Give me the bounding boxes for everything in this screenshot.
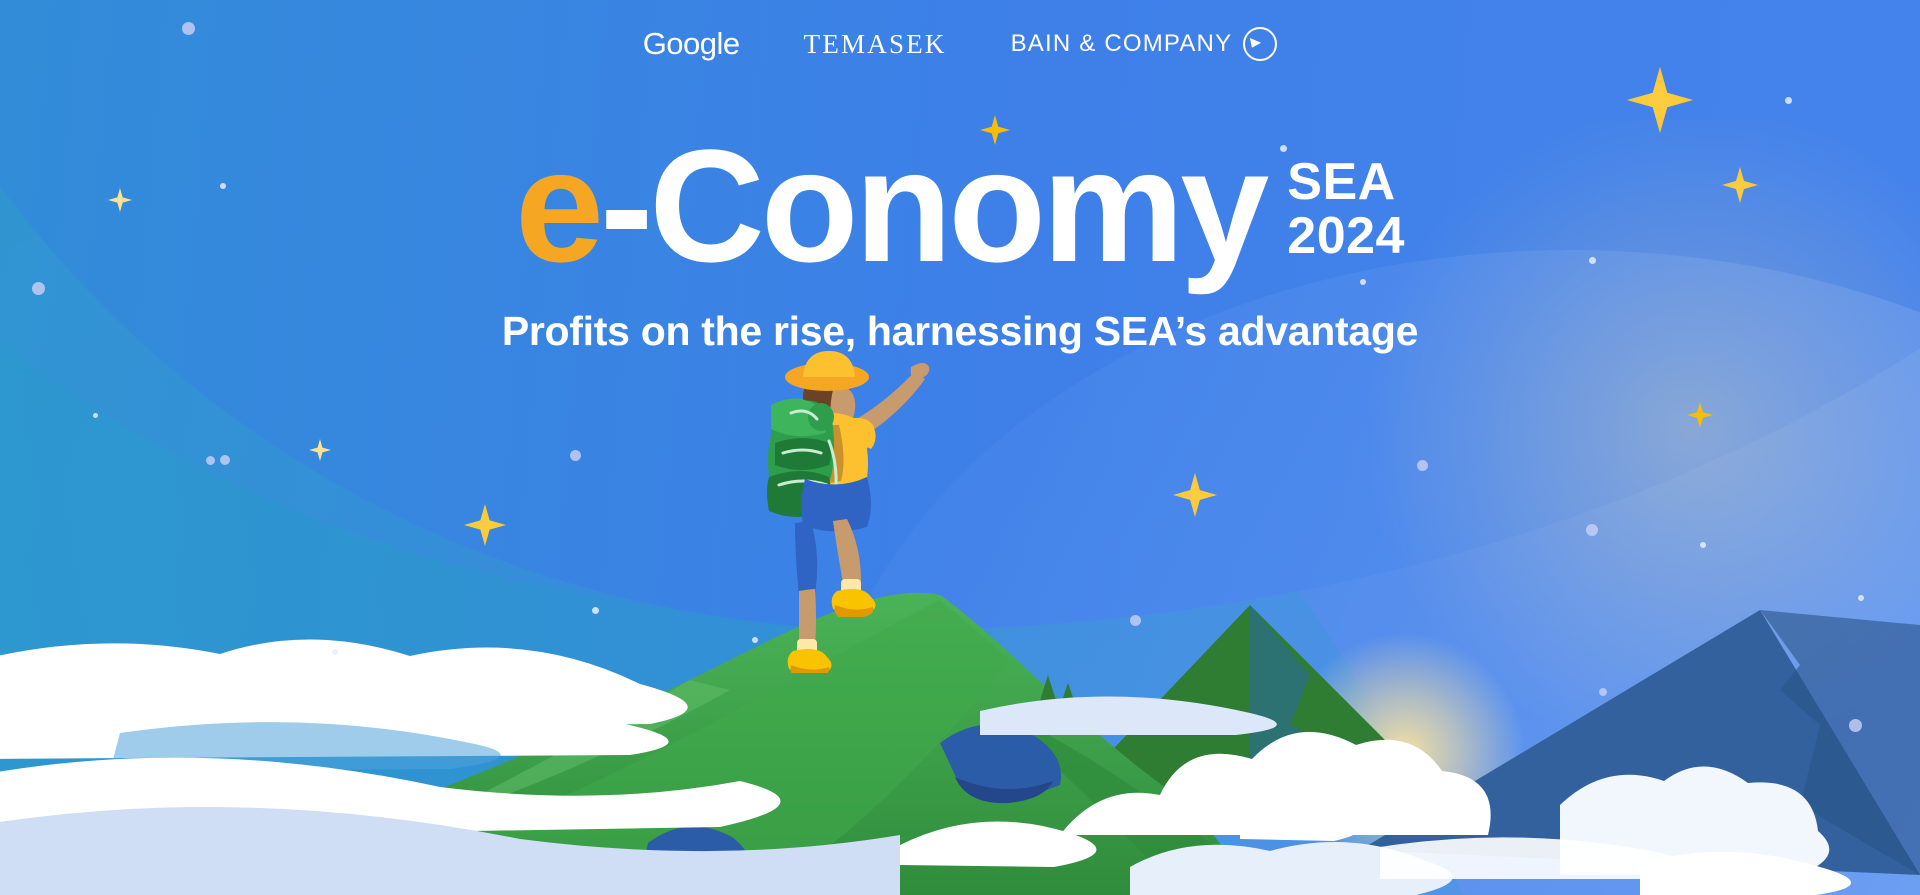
title-region: SEA [1287,156,1405,210]
star-dot [570,450,581,461]
google-logo: Google [643,26,740,62]
title-main: e-Conomy [515,130,1265,282]
partner-logo-bar: Google TEMASEK BAIN & COMPANY [0,26,1920,62]
star-dot [1417,460,1428,471]
title-conomy: -Conomy [600,116,1265,295]
star-dot [220,455,230,465]
title-year: 2024 [1287,210,1405,264]
hiker-leg-back-lower [799,589,816,645]
hiker-illustration [735,343,975,673]
title-side-block: SEA 2024 [1287,156,1405,263]
star-dot [206,456,215,465]
bain-logo-text: BAIN & COMPANY [1011,30,1233,58]
hero-banner: Google TEMASEK BAIN & COMPANY e-Conomy S… [0,0,1920,895]
hero-subtitle: Profits on the rise, harnessing SEA’s ad… [0,308,1920,355]
sparkle-icon [1627,67,1693,133]
bain-logo: BAIN & COMPANY [1011,27,1278,61]
sparkle-icon [1687,402,1713,428]
page-title: e-Conomy SEA 2024 [515,130,1405,282]
hiker-bedroll [808,403,834,431]
temasek-logo: TEMASEK [804,29,947,60]
star-dot [1785,97,1792,104]
star-dot [93,413,98,418]
hiker-leg-back-upper [795,521,817,595]
sparkle-icon [309,439,331,461]
title-e-glyph: e [515,116,600,295]
hero-text-block: e-Conomy SEA 2024 Profits on the rise, h… [0,130,1920,355]
bain-circle-wedge-icon [1243,27,1277,61]
hiker-hand [911,363,930,379]
